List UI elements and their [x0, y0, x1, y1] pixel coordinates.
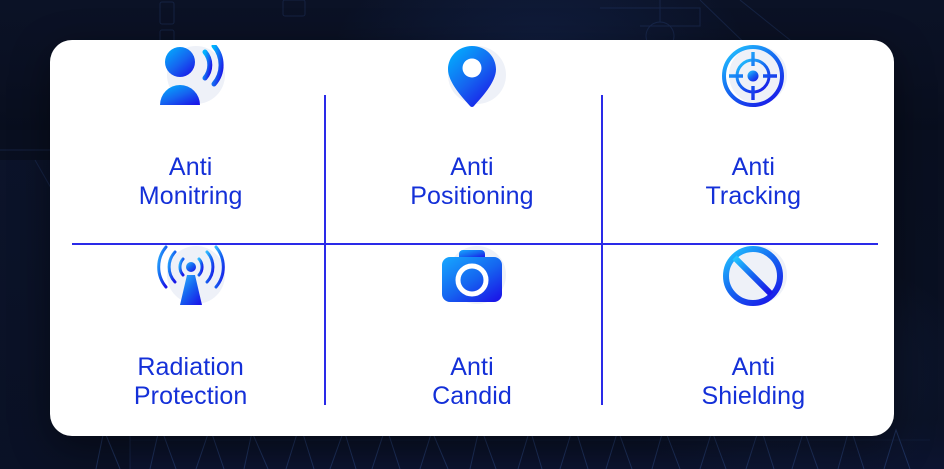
feature-cell-anti-positioning[interactable]: Anti Positioning [331, 40, 612, 240]
feature-label-line2: Positioning [410, 182, 533, 211]
map-pin-icon [446, 44, 498, 108]
feature-label-line1: Anti [169, 153, 212, 181]
feature-label-line1: Anti [450, 153, 493, 181]
feature-label: Anti Monitring [139, 124, 243, 240]
feature-card: Anti Monitring [50, 40, 894, 436]
feature-cell-anti-monitring[interactable]: Anti Monitring [50, 40, 331, 240]
feature-label-line2: Protection [134, 382, 248, 411]
icon-container [436, 240, 508, 312]
icon-container [155, 40, 227, 112]
feature-label-line1: Anti [450, 353, 493, 381]
feature-cell-anti-candid[interactable]: Anti Candid [331, 240, 612, 436]
feature-label-line2: Monitring [139, 182, 243, 211]
vertical-divider-2 [601, 95, 603, 405]
icon-container [717, 40, 789, 112]
person-sound-waves-icon [158, 45, 224, 107]
feature-label: Anti Positioning [410, 124, 533, 240]
horizontal-divider [72, 243, 878, 245]
feature-cell-anti-shielding[interactable]: Anti Shielding [613, 240, 894, 436]
vertical-divider-1 [324, 95, 326, 405]
feature-label: Radiation Protection [134, 324, 248, 436]
feature-label-line2: Candid [432, 382, 512, 411]
feature-grid: Anti Monitring [50, 40, 894, 436]
feature-label: Anti Shielding [701, 324, 805, 436]
camera-icon [441, 248, 503, 304]
crosshair-target-icon [721, 44, 785, 108]
feature-label-line2: Tracking [705, 182, 801, 211]
feature-cell-anti-tracking[interactable]: Anti Tracking [613, 40, 894, 240]
radio-tower-waves-icon [156, 245, 226, 307]
feature-label-line1: Anti [732, 153, 775, 181]
icon-container [717, 240, 789, 312]
app-root: vyx [0, 0, 944, 469]
feature-label-line1: Radiation [137, 353, 244, 381]
feature-cell-radiation-protection[interactable]: Radiation Protection [50, 240, 331, 436]
icon-container [436, 40, 508, 112]
prohibited-circle-slash-icon [722, 245, 784, 307]
feature-label: Anti Candid [432, 324, 512, 436]
feature-label-line1: Anti [732, 353, 775, 381]
feature-label: Anti Tracking [705, 124, 801, 240]
icon-container [155, 240, 227, 312]
feature-label-line2: Shielding [701, 382, 805, 411]
